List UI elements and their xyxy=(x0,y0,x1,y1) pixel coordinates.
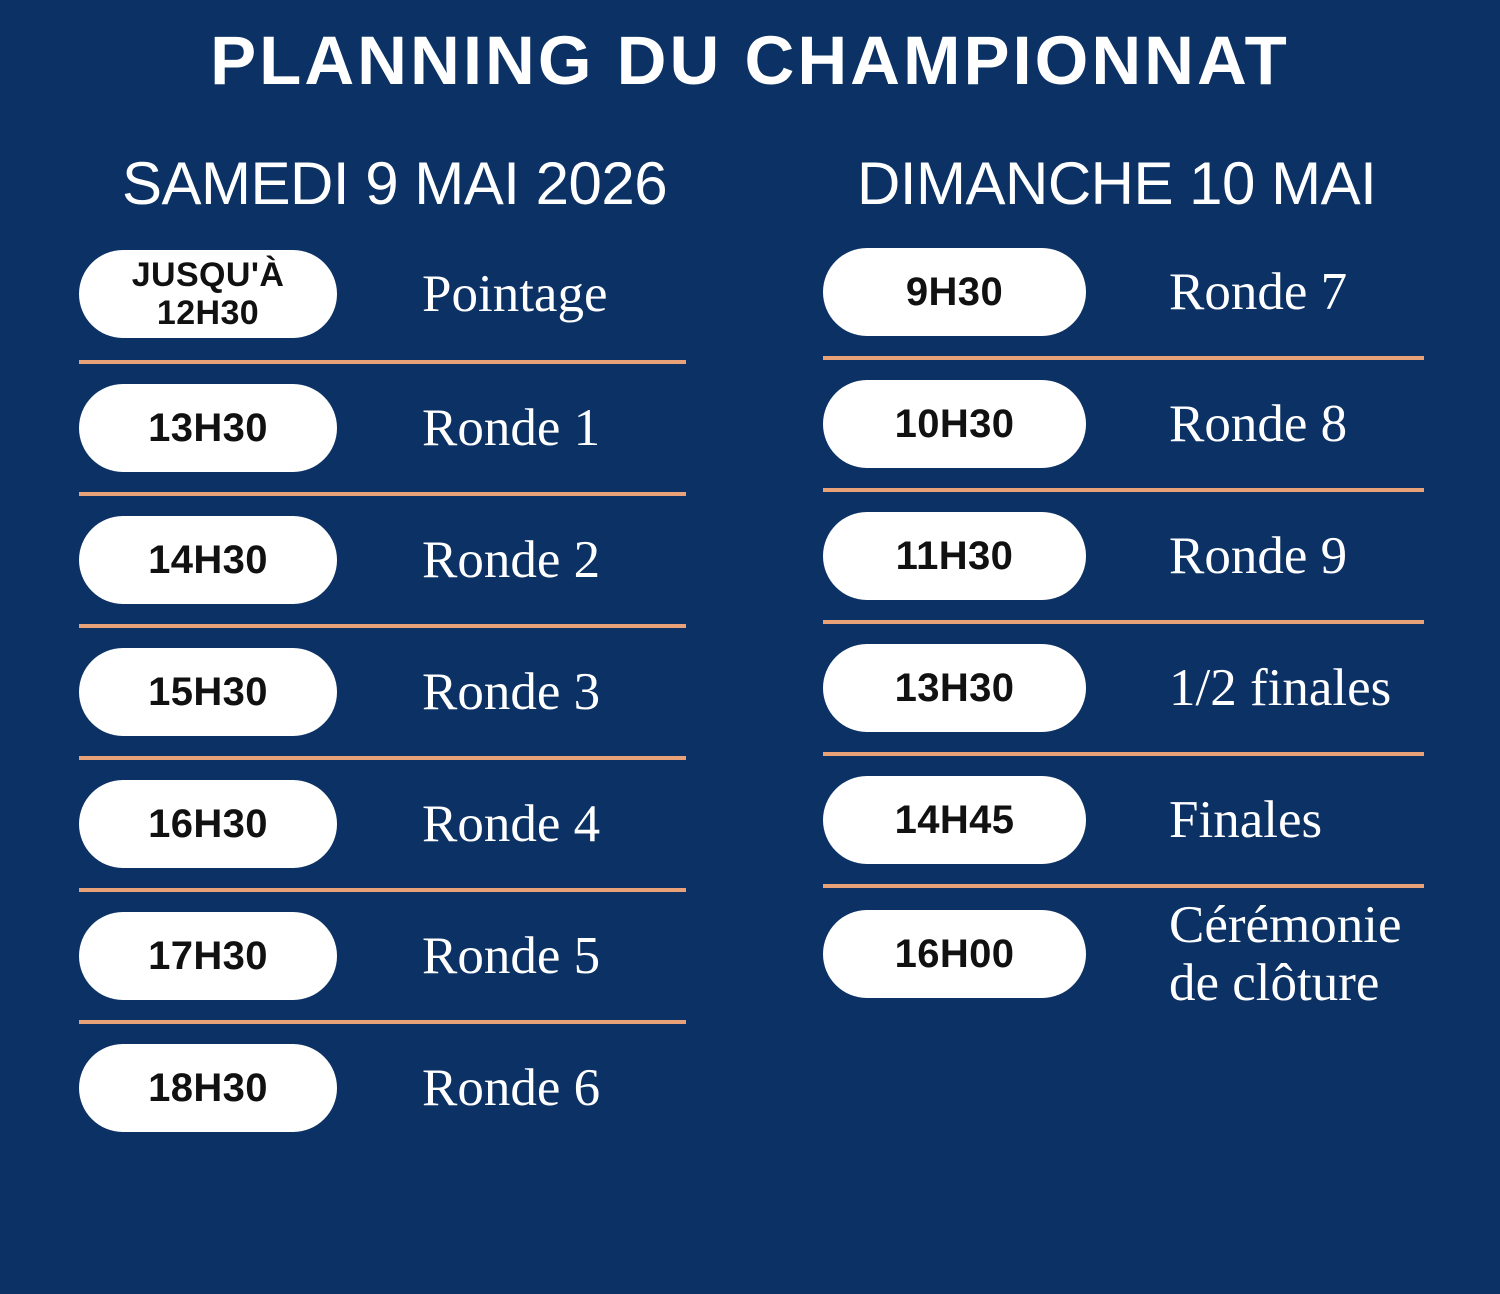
time-pill: 18H30 xyxy=(79,1044,337,1132)
time-pill: 9H30 xyxy=(823,248,1086,336)
event-label: Ronde 6 xyxy=(337,1059,687,1117)
event-label: Ronde 4 xyxy=(337,795,687,853)
event-label: 1/2 finales xyxy=(1086,659,1425,717)
schedule-rows-saturday: JUSQU'À 12H30 Pointage 13H30 Ronde 1 14H… xyxy=(79,228,687,1152)
schedule-row[interactable]: 18H30 Ronde 6 xyxy=(79,1024,687,1152)
schedule-row[interactable]: 17H30 Ronde 5 xyxy=(79,892,687,1020)
event-label: Ronde 7 xyxy=(1086,263,1425,321)
schedule-row[interactable]: 15H30 Ronde 3 xyxy=(79,628,687,756)
event-label: Ronde 3 xyxy=(337,663,687,721)
time-pill: 17H30 xyxy=(79,912,337,1000)
event-label: Ronde 5 xyxy=(337,927,687,985)
event-label: Ronde 2 xyxy=(337,531,687,589)
event-label: Finales xyxy=(1086,791,1425,849)
schedule-row[interactable]: JUSQU'À 12H30 Pointage xyxy=(79,228,687,360)
event-label: Ronde 1 xyxy=(337,399,687,457)
schedule-row[interactable]: 13H30 1/2 finales xyxy=(823,624,1425,752)
time-pill: 14H30 xyxy=(79,516,337,604)
event-label: Ronde 9 xyxy=(1086,527,1425,585)
schedule-row[interactable]: 14H45 Finales xyxy=(823,756,1425,884)
day-title-saturday: SAMEDI 9 MAI 2026 xyxy=(79,148,687,220)
schedule-row[interactable]: 14H30 Ronde 2 xyxy=(79,496,687,624)
time-pill: 15H30 xyxy=(79,648,337,736)
time-pill: 11H30 xyxy=(823,512,1086,600)
schedule-row[interactable]: 13H30 Ronde 1 xyxy=(79,364,687,492)
event-label: Pointage xyxy=(337,265,687,323)
event-label: Ronde 8 xyxy=(1086,395,1425,453)
time-pill: 14H45 xyxy=(823,776,1086,864)
time-pill: 10H30 xyxy=(823,380,1086,468)
schedule-column-sunday: DIMANCHE 10 MAI 9H30 Ronde 7 10H30 Ronde… xyxy=(823,148,1425,1020)
time-pill: 16H00 xyxy=(823,910,1086,998)
schedule-row[interactable]: 9H30 Ronde 7 xyxy=(823,228,1425,356)
event-label: Cérémonie de clôture xyxy=(1086,896,1425,1012)
schedule-row[interactable]: 11H30 Ronde 9 xyxy=(823,492,1425,620)
schedule-row[interactable]: 10H30 Ronde 8 xyxy=(823,360,1425,488)
time-pill: 13H30 xyxy=(823,644,1086,732)
schedule-row[interactable]: 16H00 Cérémonie de clôture xyxy=(823,888,1425,1020)
day-title-sunday: DIMANCHE 10 MAI xyxy=(823,148,1425,220)
schedule-row[interactable]: 16H30 Ronde 4 xyxy=(79,760,687,888)
time-pill: 16H30 xyxy=(79,780,337,868)
schedule-column-saturday: SAMEDI 9 MAI 2026 JUSQU'À 12H30 Pointage… xyxy=(79,148,687,1152)
time-pill: 13H30 xyxy=(79,384,337,472)
time-pill: JUSQU'À 12H30 xyxy=(79,250,337,338)
schedule-rows-sunday: 9H30 Ronde 7 10H30 Ronde 8 11H30 Ronde 9… xyxy=(823,228,1425,1020)
schedule-columns: SAMEDI 9 MAI 2026 JUSQU'À 12H30 Pointage… xyxy=(0,148,1500,1294)
page-title: PLANNING DU CHAMPIONNAT xyxy=(0,22,1500,100)
